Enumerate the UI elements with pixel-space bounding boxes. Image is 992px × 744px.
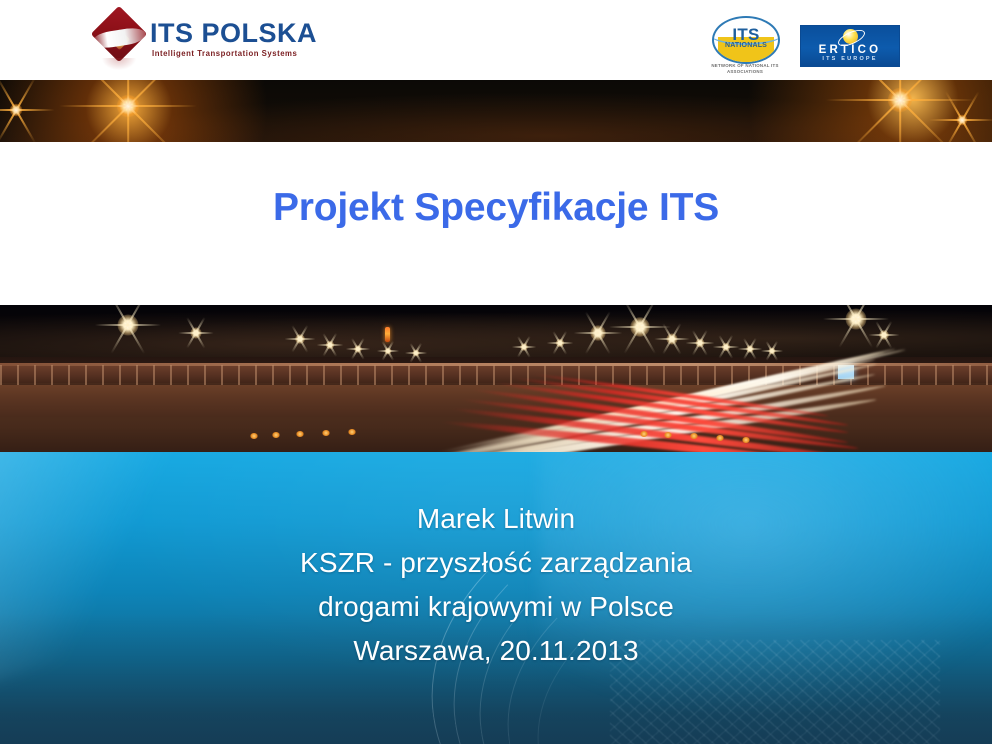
- road-marker-light: [742, 437, 750, 443]
- photo-sky-region: [0, 305, 992, 361]
- roundel-subtext: NATIONALS: [714, 42, 778, 49]
- road-marker-light: [296, 431, 304, 437]
- road-marker-light: [272, 432, 280, 438]
- street-lamp-flare-icon: [900, 100, 902, 102]
- top-night-strip-photo: [0, 80, 992, 142]
- footer-line-topic-1: KSZR - przyszłość zarządzania: [0, 541, 992, 585]
- its-polska-tagline: Intelligent Transportation Systems: [152, 49, 297, 58]
- road-marker-light: [322, 430, 330, 436]
- night-traffic-photo: [0, 305, 992, 452]
- street-lamp-icon: [416, 353, 418, 355]
- street-lamp-icon: [128, 325, 130, 327]
- street-lamp-icon: [856, 319, 858, 321]
- street-lamp-icon: [726, 347, 728, 349]
- its-polska-name: ITS POLSKA: [150, 18, 317, 49]
- road-marker-light: [348, 429, 356, 435]
- road-marker-light: [690, 433, 698, 439]
- its-nationals-roundel-icon: ITS NATIONALS: [712, 16, 780, 64]
- lamp-ray: [0, 109, 55, 111]
- road-marker-light: [664, 432, 672, 438]
- street-lamp-flare-icon: [128, 106, 130, 108]
- lamp-ray: [127, 80, 129, 142]
- street-lamp-icon: [388, 351, 390, 353]
- street-lamp-icon: [560, 343, 562, 345]
- logo-its-polska: ITS POLSKA Intelligent Transportation Sy…: [92, 8, 272, 74]
- presentation-slide: ITS POLSKA Intelligent Transportation Sy…: [0, 0, 992, 744]
- ertico-name: ERTICO: [801, 44, 899, 56]
- slide-title: Projekt Specyfikacje ITS: [0, 186, 992, 230]
- its-nationals-caption: NETWORK OF NATIONAL ITS ASSOCIATIONS: [700, 63, 790, 75]
- street-lamp-icon: [750, 349, 752, 351]
- street-lamp-icon: [598, 333, 600, 335]
- street-lamp-flare-icon: [962, 120, 964, 122]
- street-lamp-icon: [640, 327, 642, 329]
- footer-line-topic-2: drogami krajowymi w Polsce: [0, 585, 992, 629]
- its-polska-diamond-icon: [92, 10, 150, 72]
- road-marker-light: [640, 431, 648, 437]
- street-lamp-icon: [524, 347, 526, 349]
- footer-line-presenter: Marek Litwin: [0, 497, 992, 541]
- slide-header: ITS POLSKA Intelligent Transportation Sy…: [0, 0, 992, 80]
- diamond-reflection: [102, 58, 136, 70]
- street-lamp-icon: [196, 333, 198, 335]
- blue-footer-panel: Marek Litwin KSZR - przyszłość zarządzan…: [0, 452, 992, 744]
- street-lamp-icon: [358, 349, 360, 351]
- traffic-signal-icon: [385, 327, 390, 342]
- street-lamp-flare-icon: [16, 110, 18, 112]
- street-lamp-icon: [700, 343, 702, 345]
- street-lamp-icon: [672, 339, 674, 341]
- street-lamp-icon: [330, 345, 332, 347]
- logo-ertico: ERTICO ITS EUROPE: [800, 25, 900, 67]
- title-band: Projekt Specyfikacje ITS: [0, 142, 992, 305]
- ertico-subtext: ITS EUROPE: [801, 56, 899, 62]
- street-lamp-icon: [772, 351, 774, 353]
- road-marker-light: [716, 435, 724, 441]
- lamp-ray: [899, 80, 901, 142]
- street-lamp-icon: [884, 335, 886, 337]
- footer-line-place-date: Warszawa, 20.11.2013: [0, 629, 992, 673]
- street-lamp-icon: [300, 339, 302, 341]
- road-marker-light: [250, 433, 258, 439]
- logo-its-nationals: ITS NATIONALS NETWORK OF NATIONAL ITS AS…: [700, 16, 790, 78]
